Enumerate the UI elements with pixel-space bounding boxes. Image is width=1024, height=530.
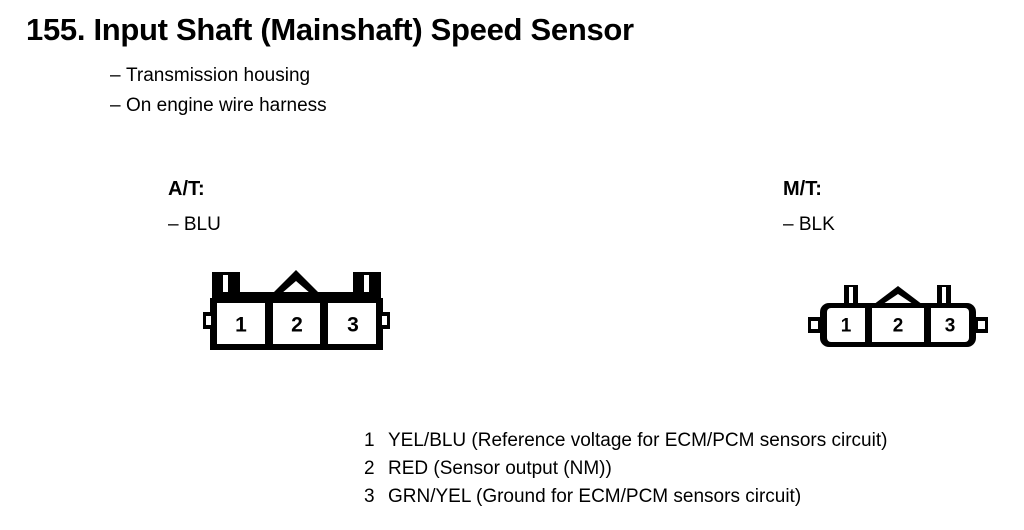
- location-label: On engine wire harness: [126, 95, 327, 116]
- terminal-number-1: 1: [841, 316, 852, 337]
- location-item-transmission-housing: –Transmission housing: [110, 64, 310, 88]
- location-label: Transmission housing: [126, 65, 310, 86]
- variant-wire-color-at: – BLU: [168, 214, 221, 236]
- terminal-number-2: 2: [291, 314, 303, 337]
- variant-label-mt: M/T:: [783, 178, 822, 200]
- connector-diagram-mt: 1 2 3: [805, 282, 1005, 362]
- legend-row: 3 GRN/YEL (Ground for ECM/PCM sensors ci…: [364, 483, 887, 511]
- bullet-dash-icon: –: [110, 94, 126, 118]
- legend-terminal-number: 3: [364, 483, 388, 511]
- legend-terminal-number: 2: [364, 455, 388, 483]
- bullet-dash-icon: –: [110, 64, 126, 88]
- legend-row: 1 YEL/BLU (Reference voltage for ECM/PCM…: [364, 427, 887, 455]
- terminal-number-2: 2: [893, 316, 904, 337]
- terminal-legend: 1 YEL/BLU (Reference voltage for ECM/PCM…: [364, 427, 887, 511]
- legend-terminal-description: RED (Sensor output (NM)): [388, 455, 612, 483]
- terminal-number-3: 3: [347, 314, 359, 337]
- legend-terminal-number: 1: [364, 427, 388, 455]
- variant-label-at: A/T:: [168, 178, 205, 200]
- connector-diagram-at: 1 2 3: [198, 262, 408, 362]
- legend-terminal-description: YEL/BLU (Reference voltage for ECM/PCM s…: [388, 427, 887, 455]
- variant-wire-color-mt: – BLK: [783, 214, 835, 236]
- terminal-number-1: 1: [235, 314, 247, 337]
- page-title: 155. Input Shaft (Mainshaft) Speed Senso…: [26, 12, 634, 48]
- terminal-number-3: 3: [945, 316, 956, 337]
- legend-terminal-description: GRN/YEL (Ground for ECM/PCM sensors circ…: [388, 483, 801, 511]
- legend-row: 2 RED (Sensor output (NM)): [364, 455, 887, 483]
- location-item-engine-wire-harness: –On engine wire harness: [110, 94, 327, 118]
